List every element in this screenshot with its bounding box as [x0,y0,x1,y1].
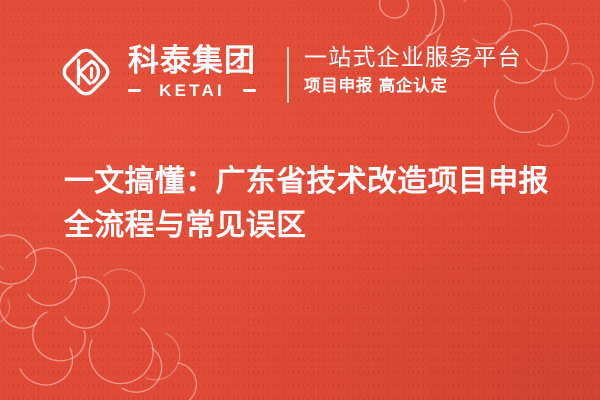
tagline-primary: 一站式企业服务平台 [304,44,584,71]
brand-logo-lockup: 科泰集团 KETAI [58,38,256,106]
tagline-secondary: 项目申报 高企认定 [304,77,584,97]
brand-wordmark: 科泰集团 KETAI [128,46,256,99]
tagline-group: 一站式企业服务平台 项目申报 高企认定 [304,44,584,97]
dash-right-decoration [243,89,256,92]
brand-name-cn: 科泰集团 [128,46,256,77]
chinese-auspicious-cloud-icon [0,228,254,400]
page-title: 一文搞懂：广东省技术改造项目申报全流程与常见误区 [64,160,556,248]
header-vertical-divider [287,47,289,103]
ketai-diamond-kd-monogram-icon [58,44,114,100]
brand-name-latin: KETAI [146,82,238,99]
dash-left-decoration [128,89,141,92]
banner-poster: 科泰集团 KETAI 一站式企业服务平台 项目申报 高企认定 一文搞懂：广东省技… [0,0,600,400]
brand-latin-row: KETAI [128,82,256,99]
